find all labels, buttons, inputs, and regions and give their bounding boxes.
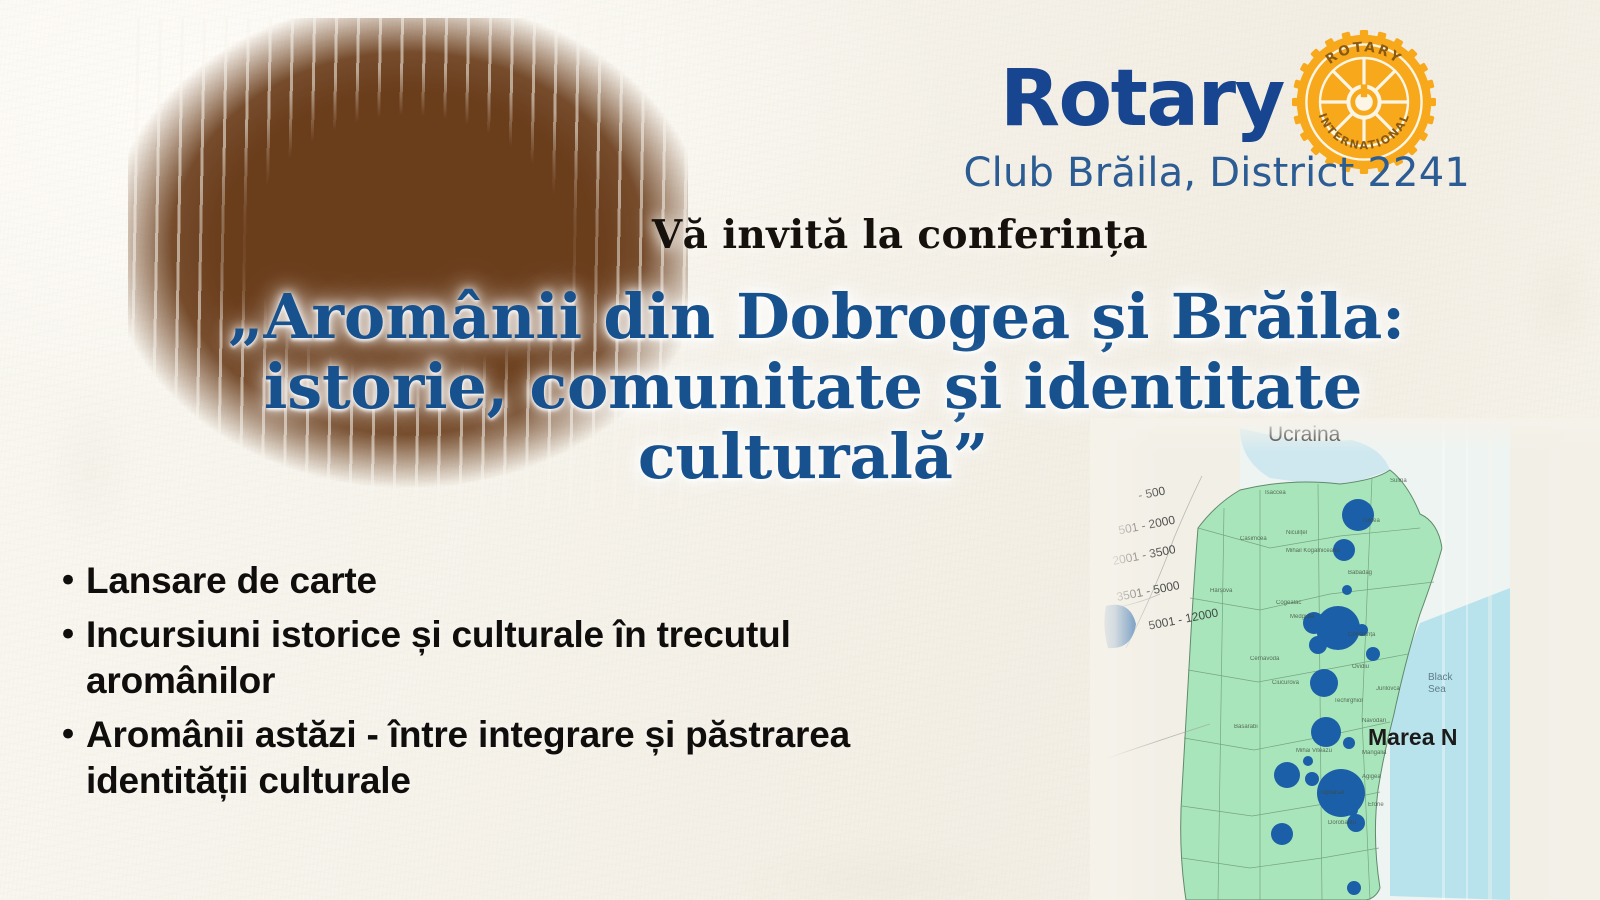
map-town-label: Hârșova xyxy=(1210,588,1232,594)
map-town-label: Isaccea xyxy=(1265,490,1286,496)
map-town-label: Niculițel xyxy=(1286,530,1307,536)
map-town-label: Dorobanțu xyxy=(1328,820,1356,826)
map-town-label: Sulina xyxy=(1390,478,1407,484)
list-item: • Aromânii astăzi - între integrare și p… xyxy=(58,712,988,804)
conference-title-line-1: „Aromânii din Dobrogea și Brăila: xyxy=(228,282,1398,352)
bullet-dot-icon: • xyxy=(58,712,86,758)
map-town-label: Mihail Kogălniceanu xyxy=(1286,548,1340,554)
invitation-line: Vă invită la conferința xyxy=(500,212,1300,258)
agenda-list: • Lansare de carte • Incursiuni istorice… xyxy=(58,558,988,812)
map-town-label: Ciucurova xyxy=(1272,680,1299,686)
map-town-label: Casimcea xyxy=(1240,536,1267,542)
rotary-wordmark: Rotary xyxy=(1000,60,1284,138)
map-town-label: Eforie xyxy=(1368,802,1384,808)
list-item: • Lansare de carte xyxy=(58,558,988,604)
map-town-label: Techirghiol xyxy=(1334,698,1363,704)
agenda-item-label: Aromânii astăzi - între integrare și păs… xyxy=(86,712,988,804)
map-label-marea-text: Marea N xyxy=(1368,724,1457,750)
rotary-club-district-label: Club Brăila, District 2241 xyxy=(790,150,1470,196)
map-town-label: Cernavodă xyxy=(1250,656,1279,662)
map-town-label: Jurilovca xyxy=(1376,686,1400,692)
poster-canvas: Rotary xyxy=(0,0,1600,900)
map-town-label: Agigea xyxy=(1362,774,1381,780)
map-town-label: Tulcea xyxy=(1362,518,1380,524)
map-label-black-sea: BlackSea xyxy=(1428,672,1452,695)
map-town-label: Cogealac xyxy=(1276,600,1301,606)
bullet-dot-icon: • xyxy=(58,612,86,658)
agenda-item-label: Lansare de carte xyxy=(86,558,377,604)
map-town-label: Topraisar xyxy=(1320,790,1345,796)
dobrogea-settlements-map: Isaccea Tulcea Niculițel Sulina Babadag … xyxy=(1090,418,1600,900)
rotary-logo-block: Rotary xyxy=(1000,22,1470,192)
map-town-label: Medgidia xyxy=(1290,614,1314,620)
agenda-item-label: Incursiuni istorice și culturale în trec… xyxy=(86,612,988,704)
map-label-marea-neagra: Marea N xyxy=(1368,724,1457,751)
map-graphic xyxy=(1090,418,1600,900)
map-town-label: Mihai Viteazu xyxy=(1296,748,1332,754)
map-town-label: Ovidiu xyxy=(1352,664,1369,670)
bullet-dot-icon: • xyxy=(58,558,86,604)
map-label-ucraina: Ucraina xyxy=(1268,423,1340,447)
conference-title-line-2: istorie, comunitate și identitate xyxy=(228,352,1398,422)
list-item: • Incursiuni istorice și culturale în tr… xyxy=(58,612,988,704)
map-town-label: Babadag xyxy=(1348,570,1372,576)
map-town-label: Constanța xyxy=(1348,632,1375,638)
map-town-label: Basarabi xyxy=(1234,724,1258,730)
